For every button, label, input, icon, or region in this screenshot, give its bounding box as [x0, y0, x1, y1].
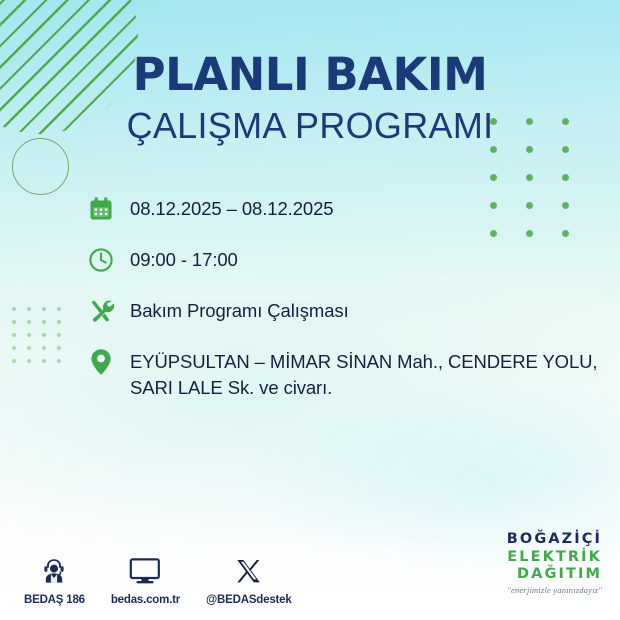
- footer: BEDAŞ 186 bedas.com.tr: [0, 538, 620, 610]
- calendar-icon: [86, 194, 116, 224]
- detail-row-worktype: Bakım Programı Çalışması: [86, 296, 616, 326]
- title-subtitle: ÇALIŞMA PROGRAMI: [0, 106, 620, 146]
- footer-contact-list: BEDAŞ 186 bedas.com.tr: [24, 554, 292, 606]
- contact-social-label: @BEDASdestek: [206, 594, 292, 606]
- date-range-text: 08.12.2025 – 08.12.2025: [130, 194, 333, 222]
- contact-website[interactable]: bedas.com.tr: [111, 554, 180, 606]
- address-text: EYÜPSULTAN – MİMAR SİNAN Mah., CENDERE Y…: [130, 347, 616, 402]
- bedas-logo: BOĞAZİÇİ ELEKTRİK DAĞITIM "enerjimizle y…: [507, 532, 602, 594]
- title-main: PLANLI BAKIM: [0, 52, 620, 97]
- monitor-icon: [129, 554, 161, 588]
- brand-line-3: DAĞITIM: [507, 567, 602, 582]
- work-type-text: Bakım Programı Çalışması: [130, 296, 349, 324]
- detail-row-address: EYÜPSULTAN – MİMAR SİNAN Mah., CENDERE Y…: [86, 347, 616, 402]
- contact-phone-label: BEDAŞ 186: [24, 594, 85, 606]
- dot-grid-left-decoration: [12, 307, 72, 372]
- time-range-text: 09:00 - 17:00: [130, 245, 238, 273]
- x-twitter-icon: [235, 554, 262, 588]
- page-title: PLANLI BAKIM ÇALIŞMA PROGRAMI: [0, 52, 620, 146]
- brand-tagline: "enerjimizle yanınızdayız": [507, 586, 602, 595]
- clock-icon: [86, 245, 116, 275]
- contact-social[interactable]: @BEDASdestek: [206, 554, 292, 606]
- detail-row-date: 08.12.2025 – 08.12.2025: [86, 194, 616, 224]
- tools-icon: [86, 296, 116, 326]
- detail-list: 08.12.2025 – 08.12.2025 09:00 - 17:00: [86, 194, 616, 402]
- location-pin-icon: [86, 347, 116, 377]
- contact-website-label: bedas.com.tr: [111, 594, 180, 606]
- brand-line-2: ELEKTRİK: [507, 550, 602, 565]
- brand-line-1: BOĞAZİÇİ: [507, 532, 602, 547]
- poster-canvas: PLANLI BAKIM ÇALIŞMA PROGRAMI: [0, 0, 620, 620]
- detail-row-time: 09:00 - 17:00: [86, 245, 616, 275]
- contact-phone[interactable]: BEDAŞ 186: [24, 554, 85, 606]
- circle-outline-decoration: [12, 138, 69, 195]
- support-agent-icon: [39, 554, 69, 588]
